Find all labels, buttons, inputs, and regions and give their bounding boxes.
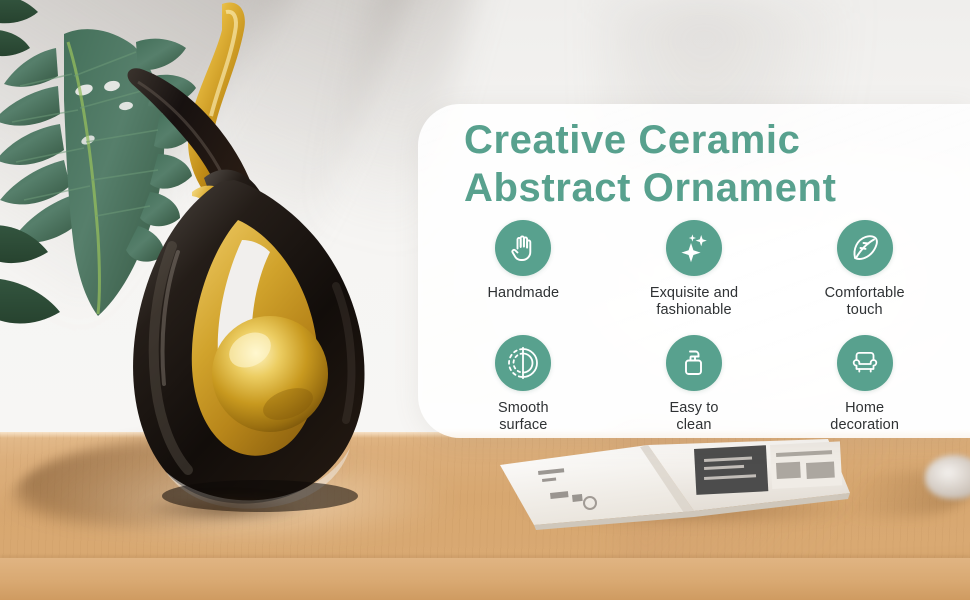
leaf-icon xyxy=(837,220,893,276)
feature-grid: Handmade Exquisite and fashionable xyxy=(438,220,950,434)
feature-easy-to-clean[interactable]: Easy to clean xyxy=(609,335,780,434)
blurred-decor-object xyxy=(925,455,970,499)
table-front-edge xyxy=(0,558,970,600)
feature-label: Handmade xyxy=(487,285,559,302)
feature-label: Easy to clean xyxy=(669,400,718,434)
product-title: Creative Ceramic Abstract Ornament xyxy=(464,116,964,212)
feature-comfortable-touch[interactable]: Comfortable touch xyxy=(779,220,950,319)
feature-home-decoration[interactable]: Home decoration xyxy=(779,335,950,434)
feature-exquisite[interactable]: Exquisite and fashionable xyxy=(609,220,780,319)
feature-label: Smooth surface xyxy=(498,400,549,434)
open-magazine xyxy=(498,437,868,532)
feature-label: Exquisite and fashionable xyxy=(650,285,738,319)
info-panel: Creative Ceramic Abstract Ornament Handm… xyxy=(418,104,970,438)
feature-label: Comfortable touch xyxy=(825,285,905,319)
soap-bottle-icon xyxy=(666,335,722,391)
hand-icon xyxy=(495,220,551,276)
smooth-surface-icon xyxy=(495,335,551,391)
sculpture-contact-shadow xyxy=(140,496,310,522)
sparkles-icon xyxy=(666,220,722,276)
product-banner: Creative Ceramic Abstract Ornament Handm… xyxy=(0,0,970,600)
feature-label: Home decoration xyxy=(830,400,899,434)
feature-smooth-surface[interactable]: Smooth surface xyxy=(438,335,609,434)
feature-handmade[interactable]: Handmade xyxy=(438,220,609,319)
armchair-icon xyxy=(837,335,893,391)
ceramic-sculpture xyxy=(92,0,382,526)
